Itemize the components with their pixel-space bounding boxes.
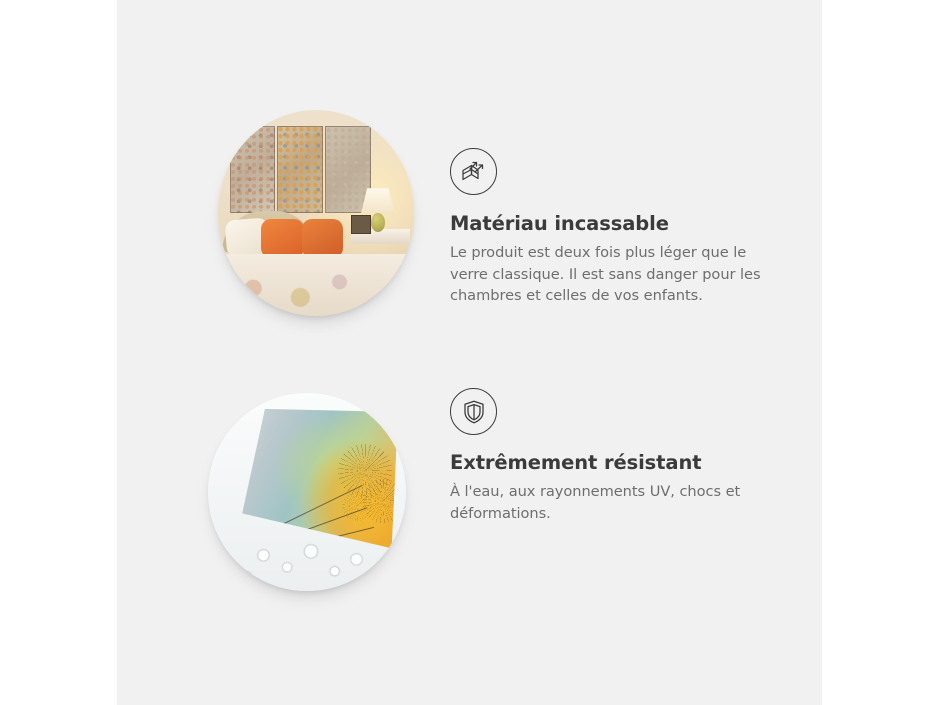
dandelion-glass-panel-photo (208, 393, 406, 591)
lamp-base (371, 213, 385, 232)
shield-icon (450, 388, 497, 435)
product-feature-infographic: Matériau incassable Le produit est deux … (0, 0, 940, 705)
feature-description: Le produit est deux fois plus léger que … (450, 242, 780, 305)
dandelion-scene (208, 393, 406, 591)
bed-cover (218, 254, 414, 316)
art-panel-center (277, 126, 323, 213)
feature-block-resistance: Extrêmement résistant À l'eau, aux rayon… (450, 388, 780, 524)
picture-frame (351, 215, 371, 233)
bedroom-wall-art-photo (218, 110, 414, 316)
pillow-orange-right (302, 219, 343, 258)
shatterproof-panel-icon (450, 148, 497, 195)
bedroom-scene (218, 110, 414, 316)
feature-title: Extrêmement résistant (450, 451, 780, 474)
feature-description: À l'eau, aux rayonnements UV, chocs et d… (450, 481, 780, 523)
pillow-orange-left (261, 219, 304, 258)
art-panel-right (325, 126, 371, 213)
art-panel-left (230, 126, 276, 213)
content-panel (117, 0, 822, 705)
feature-block-material: Matériau incassable Le produit est deux … (450, 148, 780, 306)
feature-title: Matériau incassable (450, 212, 780, 235)
triptych-wall-art (230, 126, 371, 213)
